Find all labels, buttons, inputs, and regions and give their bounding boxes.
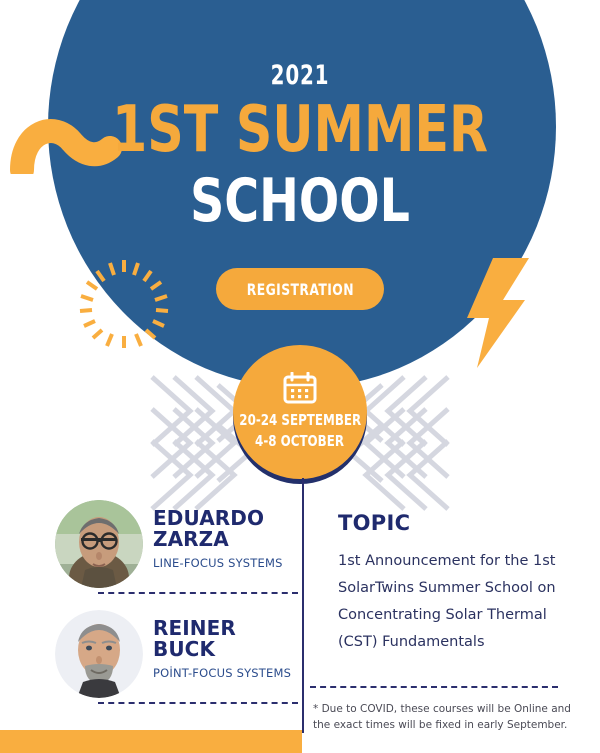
poster-title-sub: SCHOOL [36,172,564,230]
speaker-info: EDUARDO ZARZA LINE-FOCUS SYSTEMS [153,508,313,570]
registration-label: REGISTRATION [246,280,353,299]
speaker-divider-dashed [98,702,298,704]
avatar [55,610,143,698]
calendar-icon [283,372,317,404]
poster-year: 2021 [54,60,546,91]
date-circle: 20-24 SEPTEMBER 4-8 OCTOBER [233,345,367,479]
date-line-2: 4-8 OCTOBER [256,431,345,452]
topic-heading: TOPIC [338,511,410,535]
topic-body: 1st Announcement for the 1st SolarTwins … [338,548,578,656]
footnote-text: * Due to COVID, these courses will be On… [313,701,583,733]
speaker-name-line1: REINER [153,618,313,639]
speaker-name-line2: BUCK [153,639,313,660]
speaker-name-line2: ZARZA [153,529,313,550]
orange-bottom-bar [0,730,302,753]
sunburst-rays [76,258,172,350]
footnote-divider-dashed [310,686,558,688]
registration-button[interactable]: REGISTRATION [216,268,384,310]
speaker-role: POİNT-FOCUS SYSTEMS [153,666,313,680]
speaker-info: REINER BUCK POİNT-FOCUS SYSTEMS [153,618,313,680]
speaker-role: LINE-FOCUS SYSTEMS [153,556,313,570]
poster-title-main: 1ST SUMMER [36,100,564,160]
date-line-1: 20-24 SEPTEMBER [239,410,361,431]
poster-canvas: 2021 1ST SUMMER SCHOOL REGISTRATION 20-2… [0,0,600,753]
avatar [55,500,143,588]
lightning-bolt-icon [463,258,529,368]
speaker-name-line1: EDUARDO [153,508,313,529]
speaker-divider-dashed [98,592,298,594]
